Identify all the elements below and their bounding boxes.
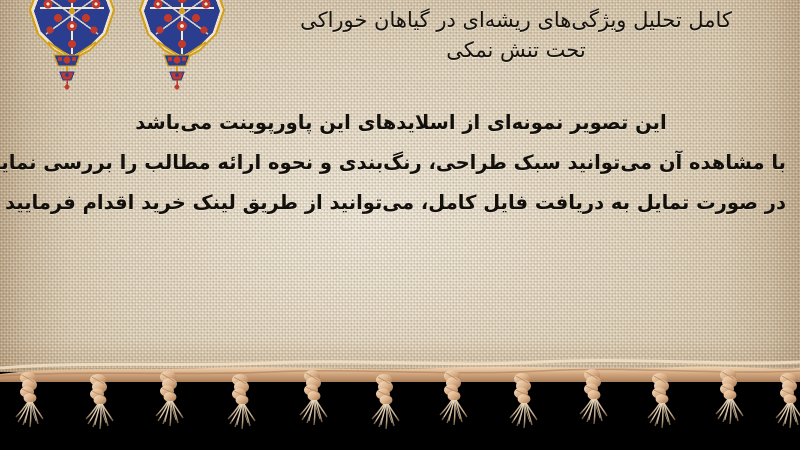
slide-body-text: این تصویر نمونه‌ای از اسلایدهای این پاور… — [16, 112, 786, 213]
slide-title-line-1: کامل تحلیل ویژگی‌های ریشه‌ای در گیاهان خ… — [240, 6, 792, 36]
carpet-fringe — [0, 352, 800, 450]
fringe-tassels-icon — [0, 352, 800, 450]
presentation-slide: کامل تحلیل ویژگی‌های ریشه‌ای در گیاهان خ… — [0, 0, 800, 450]
slide-title: کامل تحلیل ویژگی‌های ریشه‌ای در گیاهان خ… — [240, 6, 792, 66]
body-line-1: این تصویر نمونه‌ای از اسلایدهای این پاور… — [16, 112, 786, 134]
fringe-cord — [0, 367, 800, 382]
slide-title-line-2: تحت تنش نمکی — [240, 36, 792, 66]
body-line-3: در صورت تمایل به دریافت فایل کامل، می‌تو… — [16, 192, 786, 214]
body-line-2: با مشاهده آن می‌توانید سبک طراحی، رنگ‌بن… — [16, 152, 786, 174]
